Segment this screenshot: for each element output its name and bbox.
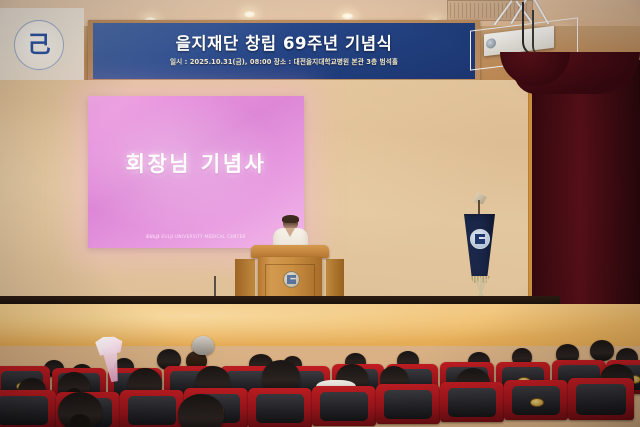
emblem-wall-panel: 己: [0, 8, 84, 80]
slide-heading: 회장님 기념사: [88, 148, 304, 178]
auditorium-seat: [0, 390, 56, 427]
speaker-hair: [282, 215, 299, 223]
auditorium-seat: [504, 380, 568, 420]
projector-lens-icon: [486, 38, 496, 49]
banner-frame: 을지재단 창립 69주년 기념식 일시 : 2025.10.31(금), 08:…: [88, 20, 480, 82]
audience-area: [0, 318, 640, 427]
ceremonial-flag: [452, 196, 508, 308]
auditorium-photo: 己 을지재단 창립 69주년 기념식 일시 : 2025.10.31(금), 0…: [0, 0, 640, 427]
emblem-glyph: 己: [28, 34, 51, 57]
slide-footer-text: EULJI UNIVERSITY MEDICAL CENTER: [161, 234, 245, 239]
stage-curtain: [532, 60, 640, 310]
auditorium-seat: [120, 390, 184, 427]
auditorium-seat: [440, 382, 504, 422]
auditorium-seat: [376, 384, 440, 424]
downlight-icon: [243, 11, 256, 18]
audience-head: [58, 392, 102, 427]
flag-crest-icon: [470, 229, 490, 249]
event-banner: 을지재단 창립 69주년 기념식 일시 : 2025.10.31(금), 08:…: [93, 23, 475, 79]
cable-icon: [532, 10, 546, 56]
auditorium-seat: [312, 386, 376, 426]
bouquet: [93, 334, 130, 384]
microphone-stand-icon: [214, 276, 216, 298]
auditorium-seat: [568, 378, 634, 420]
audience-head: [590, 340, 614, 361]
podium-crest-icon: [283, 271, 300, 288]
auditorium-seat: [248, 388, 312, 427]
banner-title: 을지재단 창립 69주년 기념식: [176, 36, 393, 53]
audience-head: [192, 336, 214, 355]
downlight-icon: [341, 13, 354, 20]
eulji-foundation-emblem-icon: 己: [14, 20, 64, 70]
audience-head: [178, 394, 224, 427]
bouquet-wrap: [99, 347, 124, 384]
banner-subtitle: 일시 : 2025.10.31(금), 08:00 장소 : 대전을지대학교병원…: [170, 56, 398, 66]
slide-footer-mark: EULJI: [146, 234, 160, 239]
